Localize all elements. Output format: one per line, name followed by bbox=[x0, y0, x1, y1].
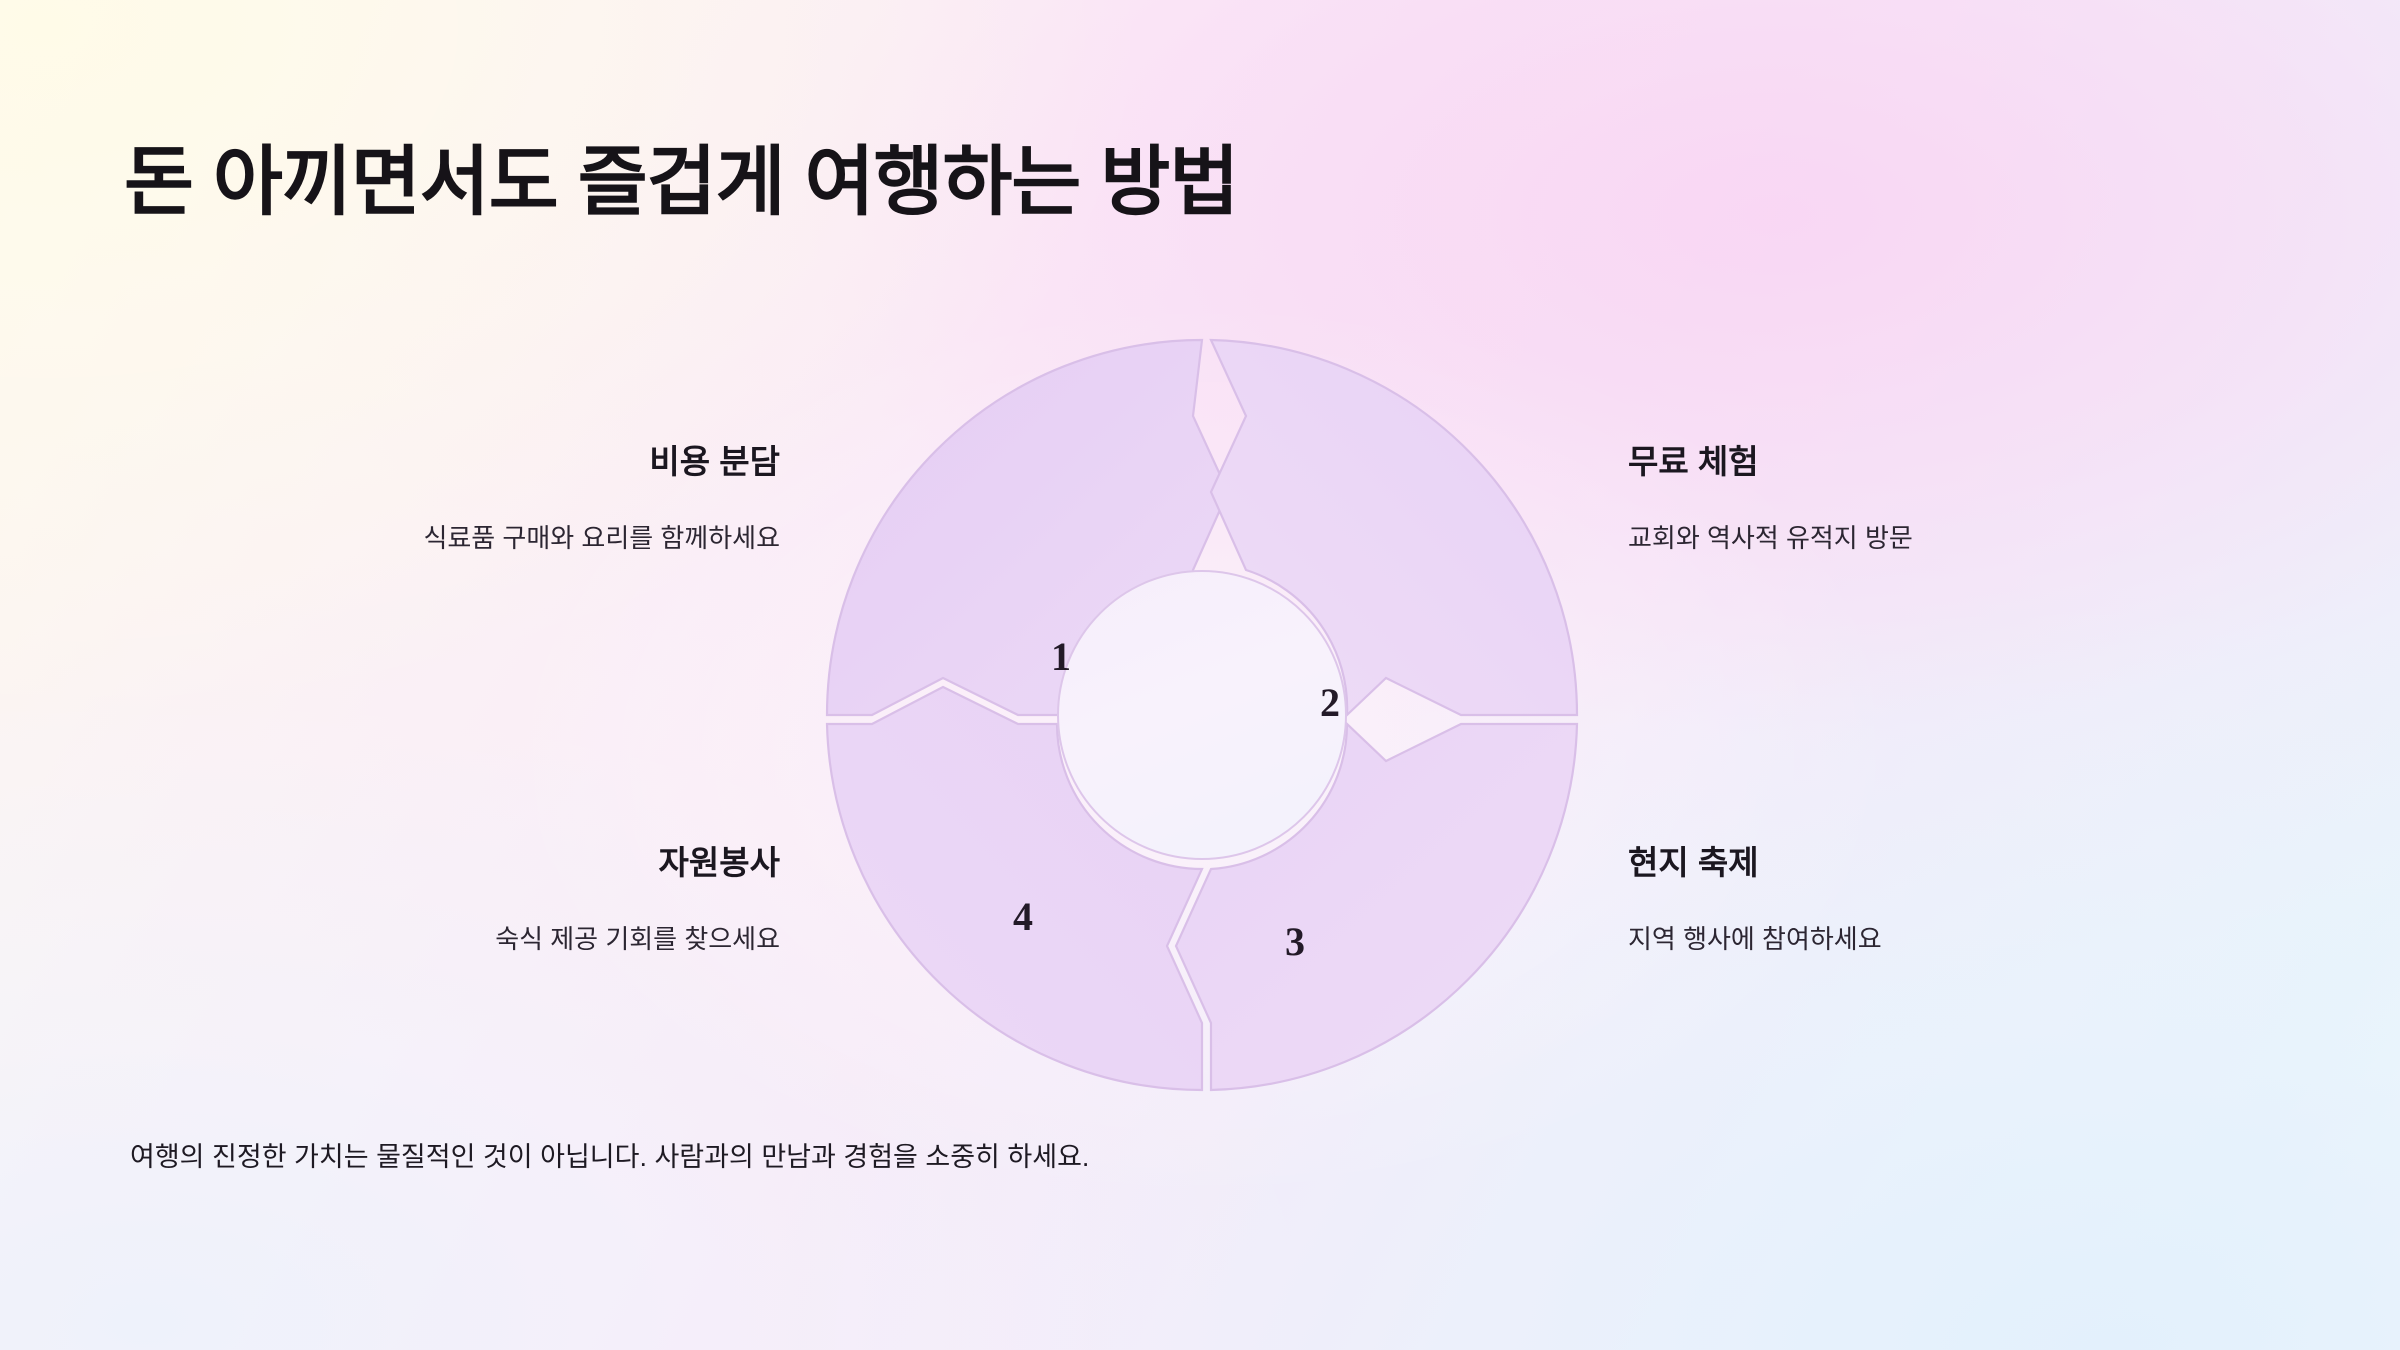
donut-segment-number-2: 2 bbox=[1320, 680, 1340, 725]
segment-label-2-title: 무료 체험 bbox=[1628, 441, 1913, 482]
segment-label-4-desc: 숙식 제공 기회를 찾으세요 bbox=[495, 923, 780, 957]
slide-stage: 돈 아끼면서도 즐겁게 여행하는 방법 bbox=[0, 0, 2400, 1350]
segment-label-2: 무료 체험 교회와 역사적 유적지 방문 bbox=[1628, 441, 1913, 556]
donut-center-hole bbox=[1058, 571, 1346, 859]
segment-label-3-title: 현지 축제 bbox=[1628, 842, 1882, 883]
segment-label-4: 자원봉사 숙식 제공 기회를 찾으세요 bbox=[495, 842, 780, 957]
footer-caption: 여행의 진정한 가치는 물질적인 것이 아닙니다. 사람과의 만남과 경험을 소… bbox=[130, 1135, 1089, 1174]
donut-segment-number-3: 3 bbox=[1285, 919, 1305, 964]
segment-label-2-desc: 교회와 역사적 유적지 방문 bbox=[1628, 522, 1913, 556]
segment-label-1-title: 비용 분담 bbox=[423, 441, 780, 482]
donut-segment-number-4: 4 bbox=[1013, 894, 1033, 939]
donut-chart: 1 2 3 4 bbox=[825, 338, 1579, 1092]
segment-label-3-desc: 지역 행사에 참여하세요 bbox=[1628, 923, 1882, 957]
segment-label-3: 현지 축제 지역 행사에 참여하세요 bbox=[1628, 842, 1882, 957]
segment-label-1: 비용 분담 식료품 구매와 요리를 함께하세요 bbox=[423, 441, 780, 556]
donut-chart-svg: 1 2 3 4 bbox=[825, 338, 1579, 1092]
donut-segment-number-1: 1 bbox=[1051, 634, 1071, 679]
segment-label-1-desc: 식료품 구매와 요리를 함께하세요 bbox=[423, 522, 780, 556]
segment-label-4-title: 자원봉사 bbox=[495, 842, 780, 883]
page-title: 돈 아끼면서도 즐겁게 여행하는 방법 bbox=[124, 142, 1238, 224]
